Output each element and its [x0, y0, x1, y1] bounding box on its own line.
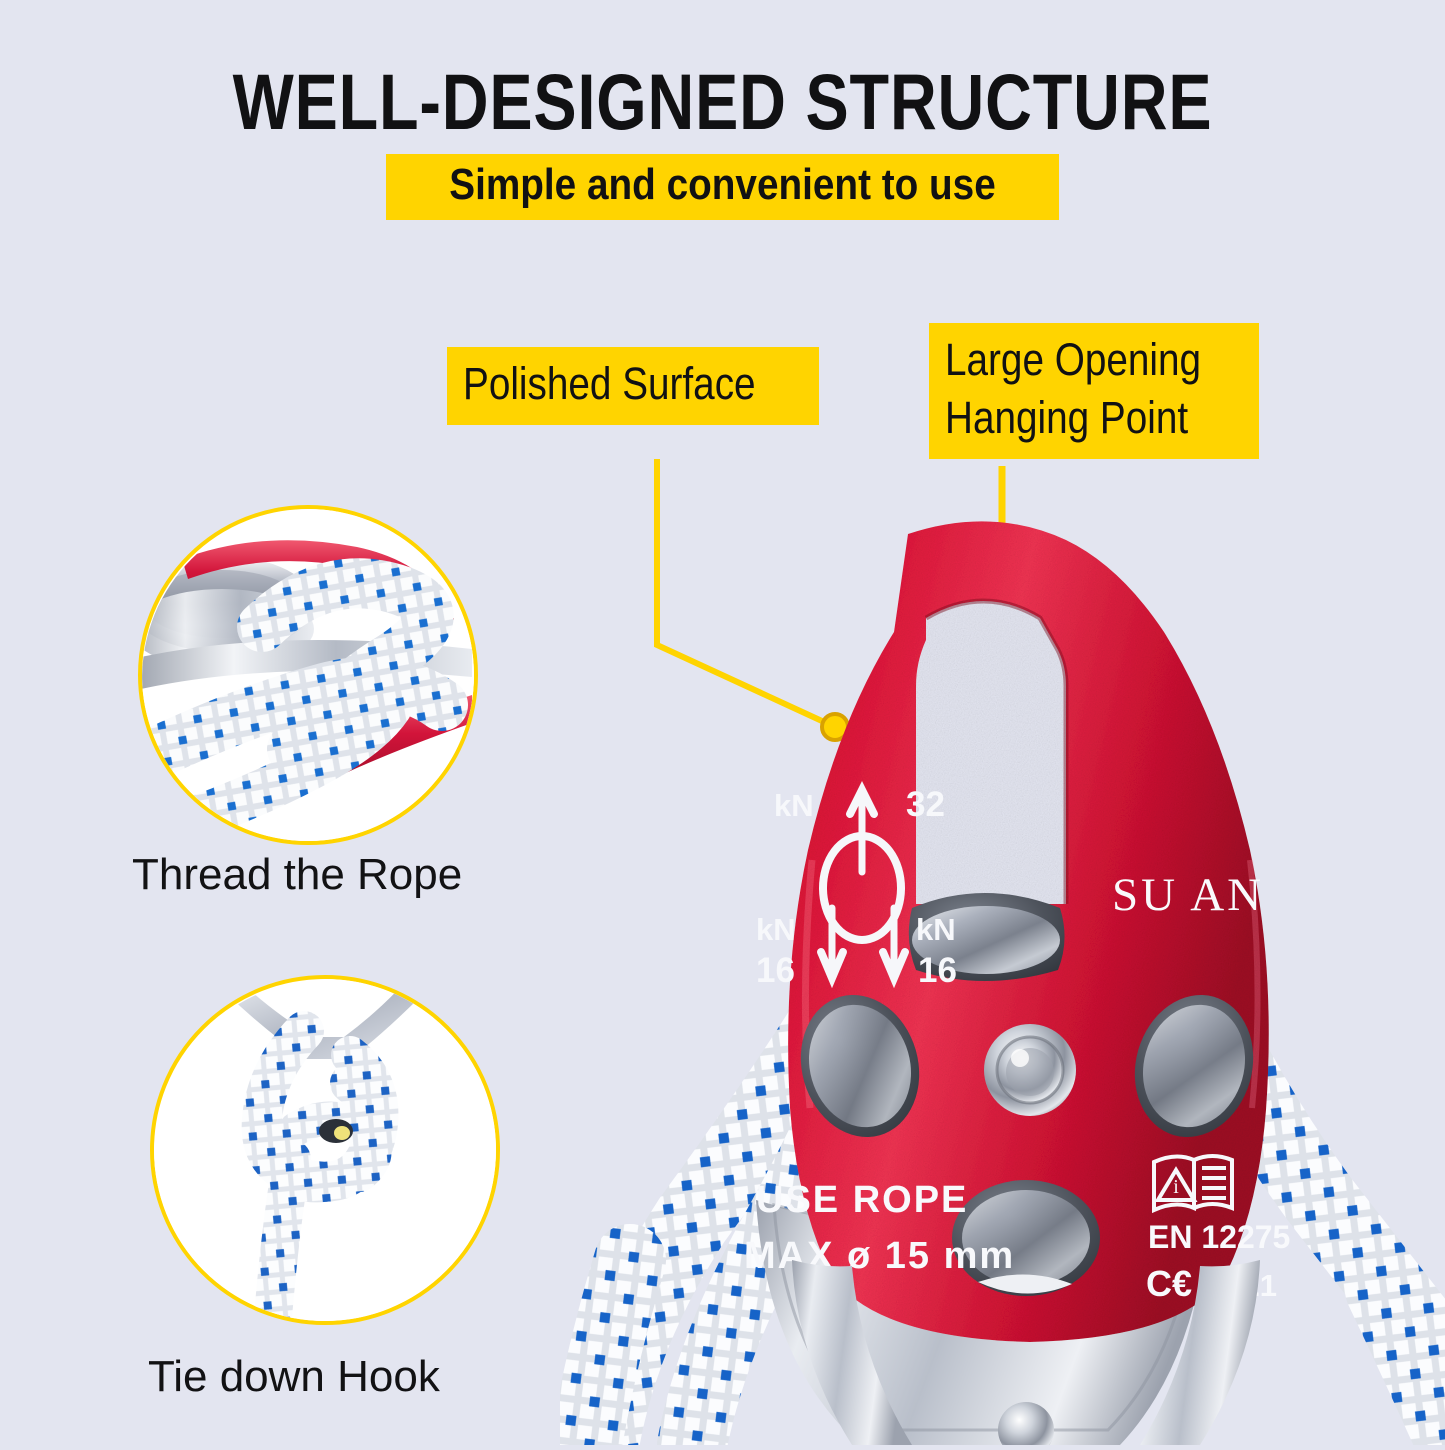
inset-thread-photo [142, 509, 474, 841]
kn-right-value: 16 [918, 951, 957, 990]
inset-thread-the-rope [138, 505, 478, 845]
caption-tie-down-hook: Tie down Hook [148, 1352, 440, 1402]
callout-hanging-point: Large Opening Hanging Point [929, 323, 1259, 459]
rope-spec-line-1: USE ROPE [756, 1179, 968, 1221]
kn-left-value: 16 [756, 951, 795, 990]
kn-top-value: 32 [906, 785, 945, 824]
infographic-canvas: WELL-DESIGNED STRUCTURE Simple and conve… [0, 0, 1445, 1445]
brand-engraving: SU AN [1112, 869, 1264, 921]
standard-engraving: EN 12275 [1148, 1219, 1290, 1255]
inset-tie-down-hook [150, 975, 500, 1325]
kn-top-unit: kN [774, 788, 814, 823]
callout-polished-surface: Polished Surface [447, 347, 819, 425]
callout-polished-surface-label: Polished Surface [463, 355, 756, 413]
warning-i-glyph: i [1173, 1176, 1179, 1198]
product-photo-pulley: kN 32 kN 16 kN 16 SU AN USE ROPE MAX ø 1… [560, 500, 1445, 1445]
kn-left-unit: kN [756, 912, 796, 947]
kn-right-unit: kN [916, 912, 956, 947]
ce-mark-engraving: C€ [1146, 1263, 1192, 1304]
rope-through-pulley-illustration [142, 509, 478, 845]
callout-hanging-point-label: Large Opening Hanging Point [945, 331, 1201, 447]
rope-spec-line-2: MAX ø 15 mm [744, 1235, 1015, 1277]
center-rivet [984, 1024, 1076, 1116]
rope-knot-illustration [154, 979, 500, 1325]
caption-thread-the-rope: Thread the Rope [132, 850, 462, 900]
inset-knot-photo [154, 979, 496, 1321]
pulley-illustration: kN 32 kN 16 kN 16 SU AN USE ROPE MAX ø 1… [560, 500, 1445, 1445]
rope-tail-left [586, 1260, 630, 1445]
hanging-point-opening [916, 601, 1066, 904]
